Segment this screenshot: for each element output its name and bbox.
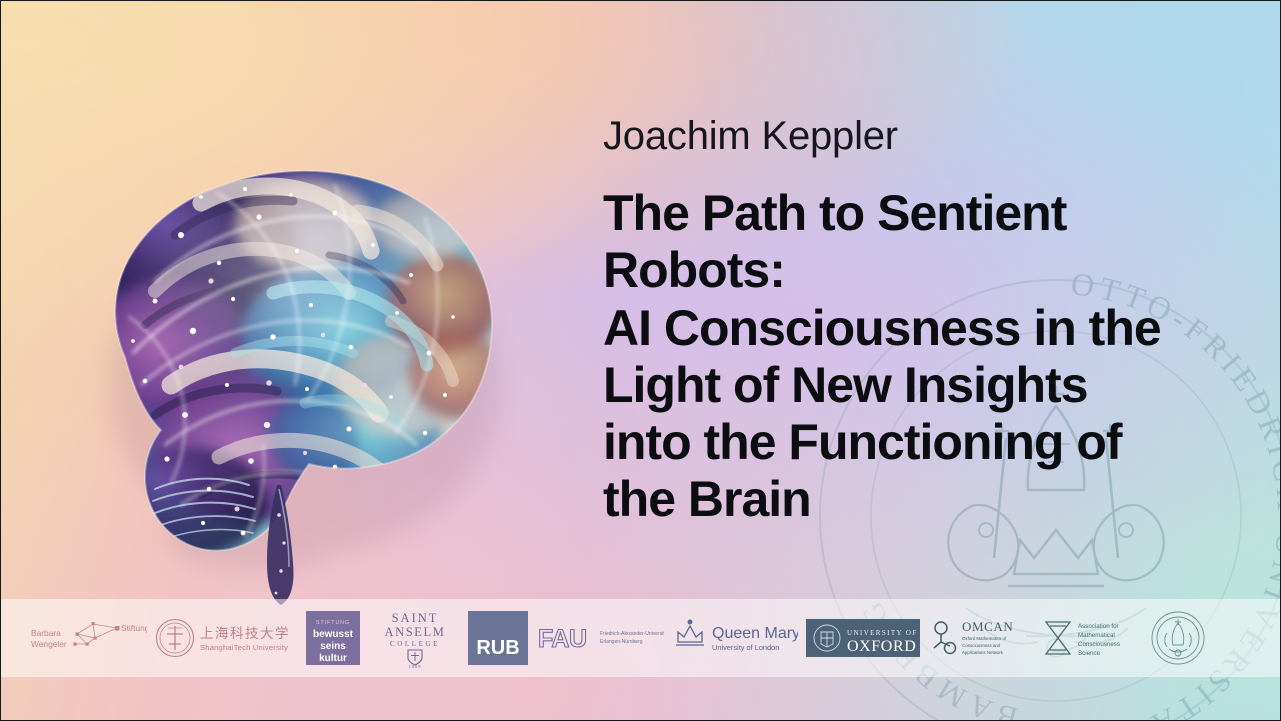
logo-university-of-oxford: UNIVERSITY OF OXFORD [801, 599, 925, 677]
logo-text-rub: RUB [476, 637, 519, 659]
logo-text-barbara: Barbara [31, 628, 61, 638]
logo-text-stiftung-label: STIFTUNG [316, 620, 350, 626]
title-line-2: Robots: [603, 242, 1268, 299]
logo-text-fau-sub2: Erlangen-Nürnberg [600, 639, 643, 645]
anselm-shield-icon [408, 650, 422, 665]
sponsor-logo-bar: Barbara Wengeler Stiftung 上海科技大学 Shangha… [1, 599, 1280, 677]
logo-stiftung-bewusstseinskultur: STIFTUNG bewusst seins kultur [297, 599, 369, 677]
logo-text-queen-mary: Queen Mary [712, 625, 798, 642]
logo-text-oxford-sup: UNIVERSITY OF [847, 629, 918, 637]
logo-text-bewusst: bewusst [313, 629, 354, 640]
logo-text-omcan-sub3: Applications Network [962, 650, 1004, 655]
logo-association-mathematical-consciousness-science: Association for Mathematical Consciousne… [1037, 599, 1145, 677]
logo-text-saint: SAINT [392, 611, 439, 625]
galaxy-brain-illustration [5, 85, 585, 645]
logo-queen-mary-university-of-london: Queen Mary University of London [667, 599, 801, 677]
logo-university-seal-right [1145, 599, 1211, 677]
logo-barbara-wengeler-stiftung: Barbara Wengeler Stiftung [27, 599, 151, 677]
title-line-6: the Brain [603, 471, 1268, 528]
circular-seal-icon [1152, 612, 1204, 664]
logo-text-wengeler: Wengeler [31, 639, 67, 649]
logo-text-seins: seins [320, 641, 346, 652]
logo-text-amcs-3: Consciousness [1078, 641, 1120, 648]
logo-text-anselm-year: 1889 [408, 664, 421, 668]
logo-text-stiftung: Stiftung [121, 623, 147, 633]
title-line-3: AI Consciousness in the [603, 300, 1268, 357]
logo-text-shanghaitech-cn: 上海科技大学 [200, 626, 290, 642]
crown-icon [676, 620, 704, 645]
omcan-mark-icon [934, 622, 956, 654]
logo-text-omcan: OMCAN [962, 619, 1013, 634]
speaker-name: Joachim Keppler [603, 114, 898, 159]
shanghaitech-emblem [157, 620, 194, 657]
brain-reflection [1, 677, 1280, 720]
logo-text-omcan-sub2: Consciousness and [962, 643, 1001, 648]
logo-shanghaitech-university: 上海科技大学 ShanghaiTech University [151, 599, 297, 677]
title-slide: OTTO-FRIEDRICH-UNIVERSITÄT BAMBERG [0, 0, 1281, 721]
logo-ruhr-universitaet-bochum: RUB [461, 599, 535, 677]
logo-text-oxford: OXFORD [847, 638, 916, 655]
logo-omcan: OMCAN Oxford Mathematics of Consciousnes… [925, 599, 1037, 677]
amcs-mark-icon [1046, 622, 1070, 654]
logo-text-anselm: ANSELM [385, 625, 446, 639]
title-line-5: into the Functioning of [603, 414, 1268, 471]
title-line-1: The Path to Sentient [603, 185, 1268, 242]
logo-text-shanghaitech-en: ShanghaiTech University [200, 643, 288, 652]
logo-text-kultur: kultur [319, 653, 347, 664]
logo-text-amcs-1: Association for [1078, 623, 1119, 630]
logo-fau-erlangen-nuernberg: FAU Friedrich-Alexander-Universität Erla… [535, 599, 667, 677]
logo-saint-anselm-college: SAINT ANSELM COLLEGE 1889 [369, 599, 461, 677]
logo-text-omcan-sub1: Oxford Mathematics of [962, 636, 1007, 641]
logo-text-qm-sub: University of London [712, 643, 779, 652]
title-line-4: Light of New Insights [603, 357, 1268, 414]
talk-title: The Path to Sentient Robots: AI Consciou… [603, 185, 1268, 529]
logo-text-fau-sub1: Friedrich-Alexander-Universität [600, 631, 664, 637]
logo-text-amcs-2: Mathematical [1078, 632, 1115, 639]
logo-text-college: COLLEGE [390, 640, 440, 648]
logo-text-fau: FAU [538, 625, 587, 653]
logo-text-amcs-4: Science [1078, 650, 1101, 657]
brain-reflection-image [5, 677, 585, 720]
